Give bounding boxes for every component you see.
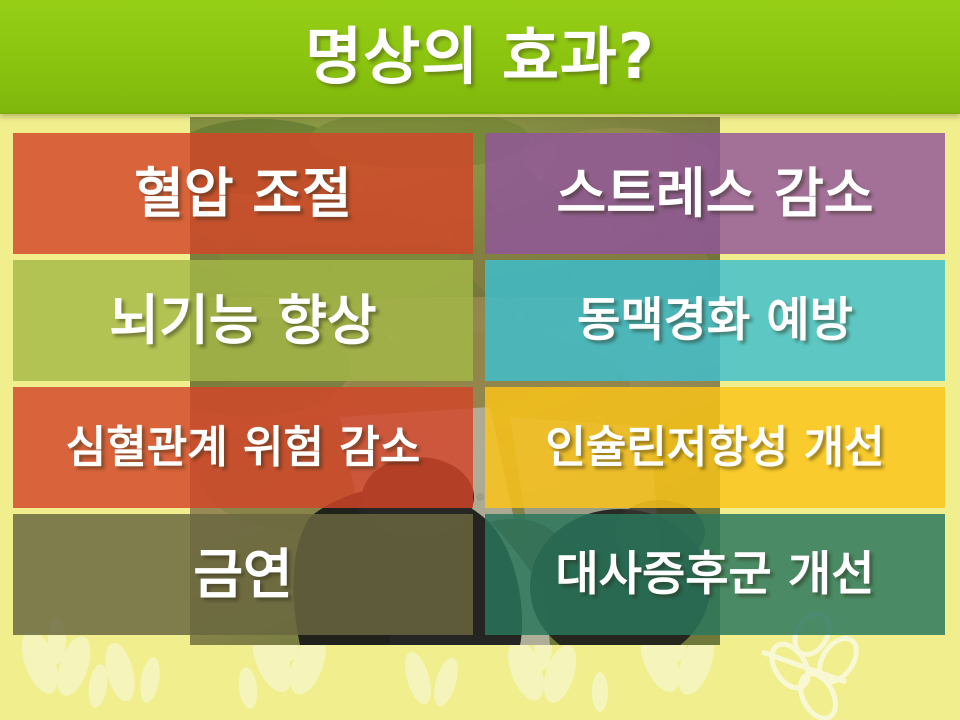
benefit-label: 스트레스 감소	[551, 167, 880, 221]
benefit-cell-metabolic-syndrome[interactable]: 대사증후군 개선	[485, 514, 945, 635]
slide: 명상의 효과? 혈압 조절 스트레스 감소 뇌기능 향상 동맥경화 예방 심혈관…	[0, 0, 960, 720]
benefit-label: 금연	[187, 548, 298, 602]
benefit-cell-blood-pressure[interactable]: 혈압 조절	[13, 133, 473, 254]
title-banner: 명상의 효과?	[0, 0, 960, 114]
page-title: 명상의 효과?	[305, 26, 655, 88]
benefit-cell-atherosclerosis-prevention[interactable]: 동맥경화 예방	[485, 260, 945, 381]
benefit-label: 인슐린저항성 개선	[539, 426, 890, 470]
benefits-grid: 혈압 조절 스트레스 감소 뇌기능 향상 동맥경화 예방 심혈관계 위험 감소 …	[13, 133, 945, 635]
benefit-cell-cardiovascular-risk[interactable]: 심혈관계 위험 감소	[13, 387, 473, 508]
benefit-cell-smoking-cessation[interactable]: 금연	[13, 514, 473, 635]
benefit-label: 심혈관계 위험 감소	[60, 426, 426, 470]
benefit-label: 뇌기능 향상	[103, 294, 382, 348]
benefit-cell-stress-reduction[interactable]: 스트레스 감소	[485, 133, 945, 254]
benefit-label: 대사증후군 개선	[549, 551, 880, 598]
benefit-cell-insulin-resistance[interactable]: 인슐린저항성 개선	[485, 387, 945, 508]
benefit-label: 동맥경화 예방	[571, 297, 859, 344]
benefit-label: 혈압 조절	[128, 167, 358, 221]
benefit-cell-brain-function[interactable]: 뇌기능 향상	[13, 260, 473, 381]
